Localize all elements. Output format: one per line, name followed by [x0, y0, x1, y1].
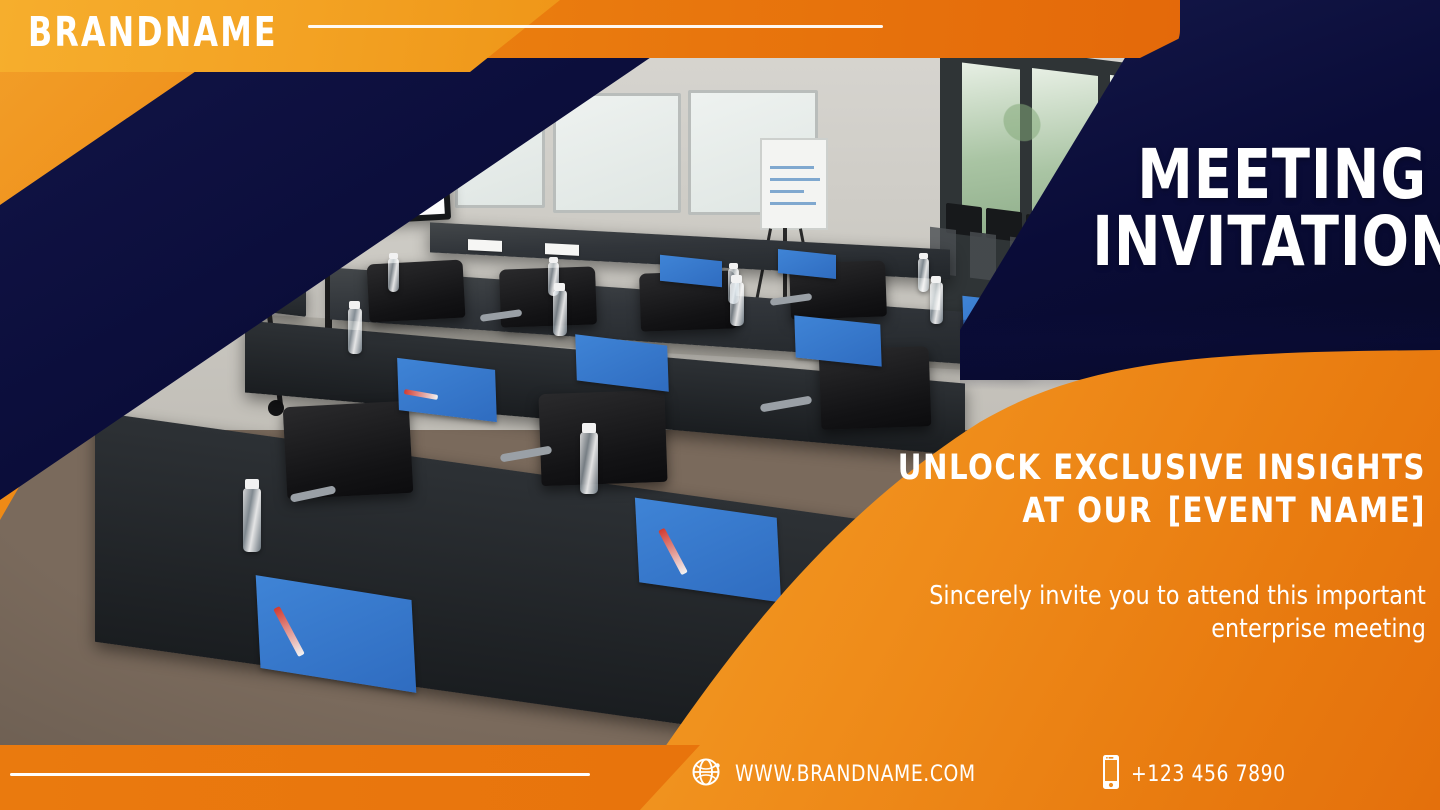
footer-divider-line [10, 773, 590, 776]
event-name-placeholder: [EVENT NAME] [1168, 491, 1426, 531]
meeting-invitation-poster: BRANDNAME MEETING INVITATION UNLOCK EXCL… [0, 0, 1440, 810]
phone-label: +123 456 7890 [1131, 762, 1286, 787]
smartphone-icon [1100, 753, 1122, 796]
globe-icon [690, 755, 724, 794]
website-label: WWW.BRANDNAME.COM [735, 762, 976, 787]
body-text: Sincerely invite you to attend this impo… [822, 580, 1426, 647]
headline-line-1: UNLOCK EXCLUSIVE INSIGHTS [898, 448, 1426, 488]
brand-name: BRANDNAME [28, 12, 278, 53]
footer-orange-bar [0, 745, 760, 810]
top-divider-line [308, 25, 883, 28]
headline-at-our: AT OUR [1022, 491, 1152, 531]
title-line-2: INVITATION [1092, 209, 1427, 276]
website-contact[interactable]: WWW.BRANDNAME.COM [690, 752, 988, 796]
headline: UNLOCK EXCLUSIVE INSIGHTS AT OUR[EVENT N… [872, 447, 1426, 532]
footer-contacts: WWW.BRANDNAME.COM +123 456 7890 [690, 752, 1390, 796]
page-title: MEETING INVITATION [1092, 142, 1427, 276]
headline-line-2: AT OUR[EVENT NAME] [872, 490, 1426, 533]
phone-contact[interactable]: +123 456 7890 [1100, 752, 1294, 796]
